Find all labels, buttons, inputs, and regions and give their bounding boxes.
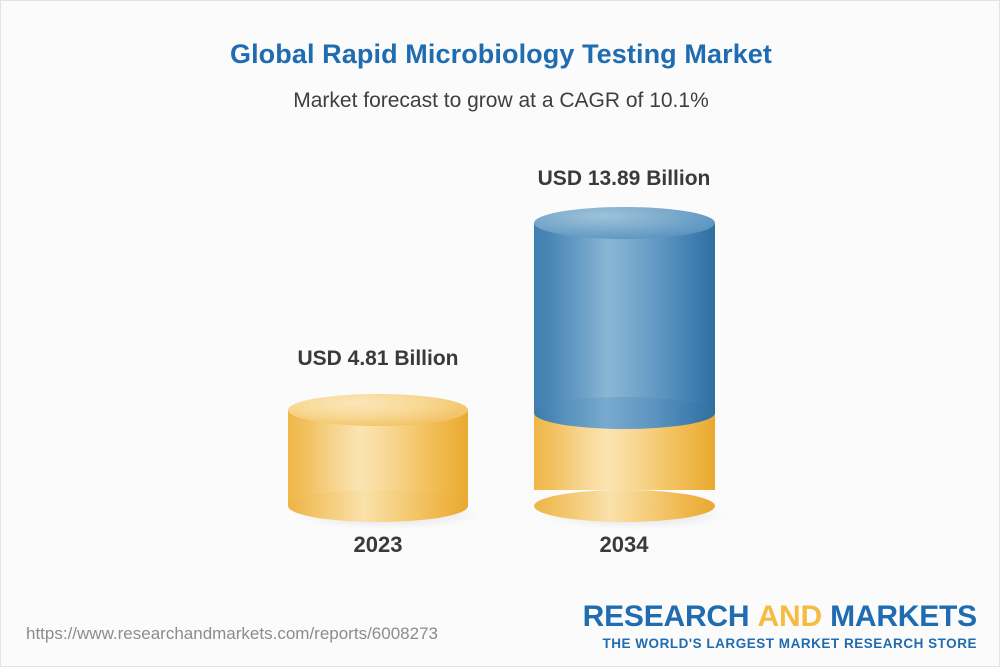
category-label-2023: 2023: [278, 532, 478, 558]
source-url[interactable]: https://www.researchandmarkets.com/repor…: [26, 624, 438, 644]
logo-word-research: RESEARCH: [583, 600, 750, 633]
bar-2023-top-cap: [288, 394, 468, 426]
logo-tagline: THE WORLD'S LARGEST MARKET RESEARCH STOR…: [583, 637, 977, 651]
value-label-2034: USD 13.89 Billion: [524, 167, 724, 191]
bar-2034-segment-seam: [534, 397, 715, 429]
logo-word-and: [749, 600, 757, 633]
brand-logo[interactable]: RESEARCH AND MARKETS THE WORLD'S LARGEST…: [583, 602, 977, 651]
bar-2034[interactable]: [534, 207, 715, 522]
logo-space: [822, 600, 830, 633]
value-label-2023: USD 4.81 Billion: [278, 347, 478, 371]
category-label-2034: 2034: [524, 532, 724, 558]
bar-2034-bottom: [534, 490, 715, 522]
logo-word-and-text: AND: [758, 600, 822, 633]
logo-word-markets: MARKETS: [830, 600, 977, 633]
bar-2023[interactable]: [288, 394, 468, 522]
chart-canvas: Global Rapid Microbiology Testing Market…: [0, 0, 1000, 667]
bar-2034-growth-body: [534, 223, 715, 413]
bar-2034-top-cap: [534, 207, 715, 239]
logo-wordmark: RESEARCH AND MARKETS: [583, 602, 977, 632]
bar-2023-bottom: [288, 490, 468, 522]
plot-area: USD 4.81 Billion 2023 USD 13.89 Billion: [1, 1, 1000, 601]
